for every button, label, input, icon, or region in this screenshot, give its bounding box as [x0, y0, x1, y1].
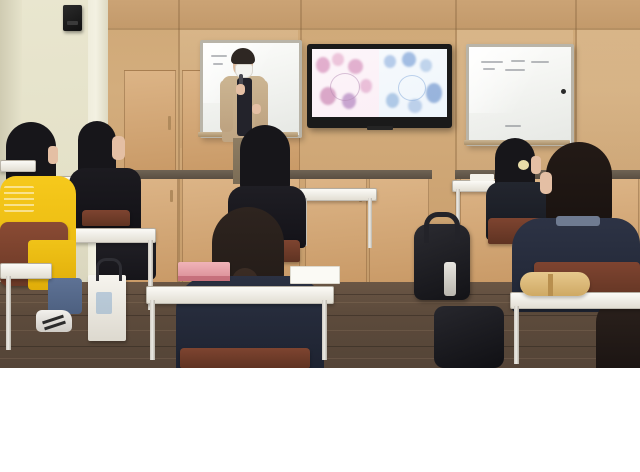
cabinet-handle[interactable]: [170, 190, 173, 202]
whiteboard-writing: [211, 55, 227, 57]
student-hair: [240, 125, 290, 195]
lecturer-arm: [220, 80, 233, 132]
lecturer-hand: [236, 84, 245, 95]
pink-book-band: [178, 276, 230, 281]
hair-tie: [518, 160, 529, 170]
paper-sheet: [290, 266, 340, 284]
tan-bag: [520, 272, 590, 296]
slide-illustration: [332, 53, 344, 66]
whiteboard-glare: [469, 47, 571, 113]
slide-illustration: [384, 55, 396, 68]
water-bottle: [444, 262, 456, 296]
slide-circle: [330, 73, 360, 101]
wall-speaker-icon: [63, 5, 82, 31]
backpack: [434, 306, 504, 368]
cabinet-handle[interactable]: [168, 116, 171, 130]
slide-illustration: [386, 93, 399, 108]
whiteboard-writing: [483, 68, 495, 70]
slide-illustration: [360, 79, 372, 93]
student-hair: [596, 300, 640, 368]
wall-seam: [300, 0, 302, 44]
wood-wall-header: [108, 0, 640, 28]
display-stand: [367, 126, 393, 130]
student-desk: [299, 188, 377, 201]
desk-leg: [322, 300, 327, 360]
display-screen: [312, 49, 447, 117]
whiteboard: [466, 44, 574, 146]
student-chair: [82, 210, 130, 226]
tan-bag-strap: [548, 274, 553, 296]
whiteboard-writing: [505, 125, 521, 127]
student-jeans: [48, 278, 82, 314]
tote-bag-handle: [96, 258, 122, 281]
desk-leg: [150, 300, 155, 360]
student-face: [112, 136, 125, 160]
footer-banner: 고 인 돌 서울특별시교육청 고전·인문아카데미 고전 인문학이 돌아오다: [0, 368, 640, 472]
tote-bag-print: [96, 292, 112, 314]
paper-sheet: [470, 174, 494, 181]
student-chair: [180, 348, 310, 368]
whiteboard-writing: [481, 61, 503, 63]
whiteboard-writing: [531, 61, 549, 63]
desk-leg: [514, 306, 519, 364]
screenshot-root: 고 인 돌 서울특별시교육청 고전·인문아카데미 고전 인문학이 돌아오다: [0, 0, 640, 472]
backpack-strap: [424, 212, 460, 243]
slide-circle: [398, 75, 426, 101]
classroom-photo: [0, 0, 640, 368]
lecturer-face-mask: [235, 64, 253, 78]
student-face: [531, 156, 541, 174]
shirt-print: [4, 186, 34, 212]
projector-display: [307, 44, 452, 128]
collar: [556, 216, 600, 226]
student-face: [540, 172, 552, 194]
slide-illustration: [348, 59, 363, 74]
slide-illustration: [402, 52, 416, 67]
whiteboard-magnet-icon: [561, 89, 566, 94]
slide-illustration: [420, 59, 432, 72]
lecturer-hand: [252, 104, 261, 114]
student-desk: [146, 286, 334, 304]
desk-leg: [368, 198, 372, 248]
student-face: [48, 146, 58, 164]
desk-leg: [6, 276, 11, 350]
slide-illustration: [408, 99, 422, 113]
whiteboard-writing: [505, 69, 525, 71]
student-desk: [0, 160, 36, 172]
whiteboard-writing: [213, 63, 223, 65]
whiteboard-writing: [511, 60, 525, 62]
slide-illustration: [426, 83, 442, 103]
slide-illustration: [316, 57, 330, 73]
